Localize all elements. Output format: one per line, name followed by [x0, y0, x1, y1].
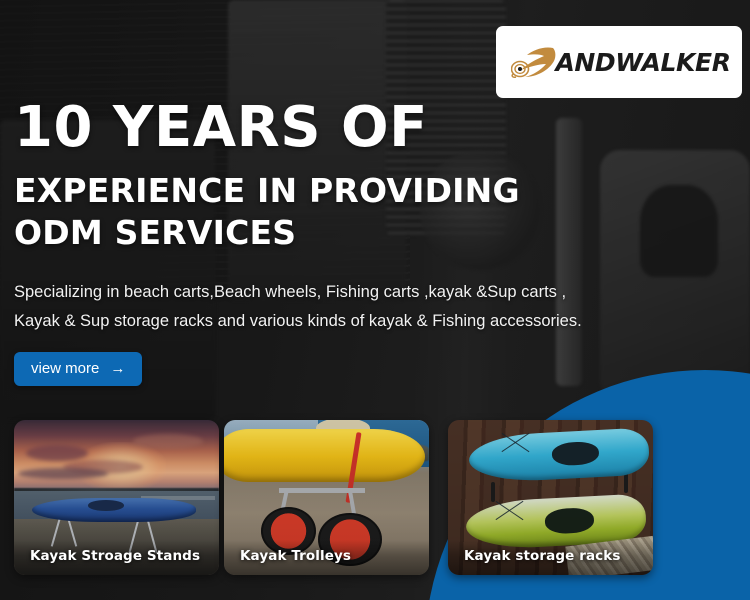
- snail-swoosh-icon: [511, 45, 557, 79]
- brand-logo: ANDWALKER: [496, 26, 742, 98]
- view-more-label: view more: [31, 360, 99, 377]
- product-card[interactable]: Kayak Stroage Stands: [14, 420, 219, 575]
- hero-headline: 10 YEARS OF: [14, 100, 714, 156]
- product-card-label: Kayak Stroage Stands: [14, 540, 219, 575]
- product-card[interactable]: Kayak storage racks: [448, 420, 653, 575]
- product-card-label: Kayak Trolleys: [224, 540, 429, 575]
- hero-copy: 10 YEARS OF EXPERIENCE IN PROVIDING ODM …: [14, 100, 714, 336]
- product-card[interactable]: Kayak Trolleys: [224, 420, 429, 575]
- hero-paragraph: Specializing in beach carts,Beach wheels…: [14, 278, 714, 336]
- product-card-list: Kayak Stroage Stands Kayak Trolleys: [0, 420, 750, 575]
- promo-banner: ANDWALKER 10 YEARS OF EXPERIENCE IN PROV…: [0, 0, 750, 600]
- product-card-label: Kayak storage racks: [448, 540, 653, 575]
- hero-paragraph-line1: Specializing in beach carts,Beach wheels…: [14, 278, 714, 307]
- hero-paragraph-line2: Kayak & Sup storage racks and various ki…: [14, 307, 714, 336]
- hero-subheadline-line1: EXPERIENCE IN PROVIDING: [14, 170, 714, 212]
- view-more-button[interactable]: view more →: [14, 352, 142, 386]
- hero-subheadline-line2: ODM SERVICES: [14, 212, 714, 254]
- brand-logo-text: ANDWALKER: [555, 50, 730, 75]
- arrow-right-icon: →: [110, 361, 125, 376]
